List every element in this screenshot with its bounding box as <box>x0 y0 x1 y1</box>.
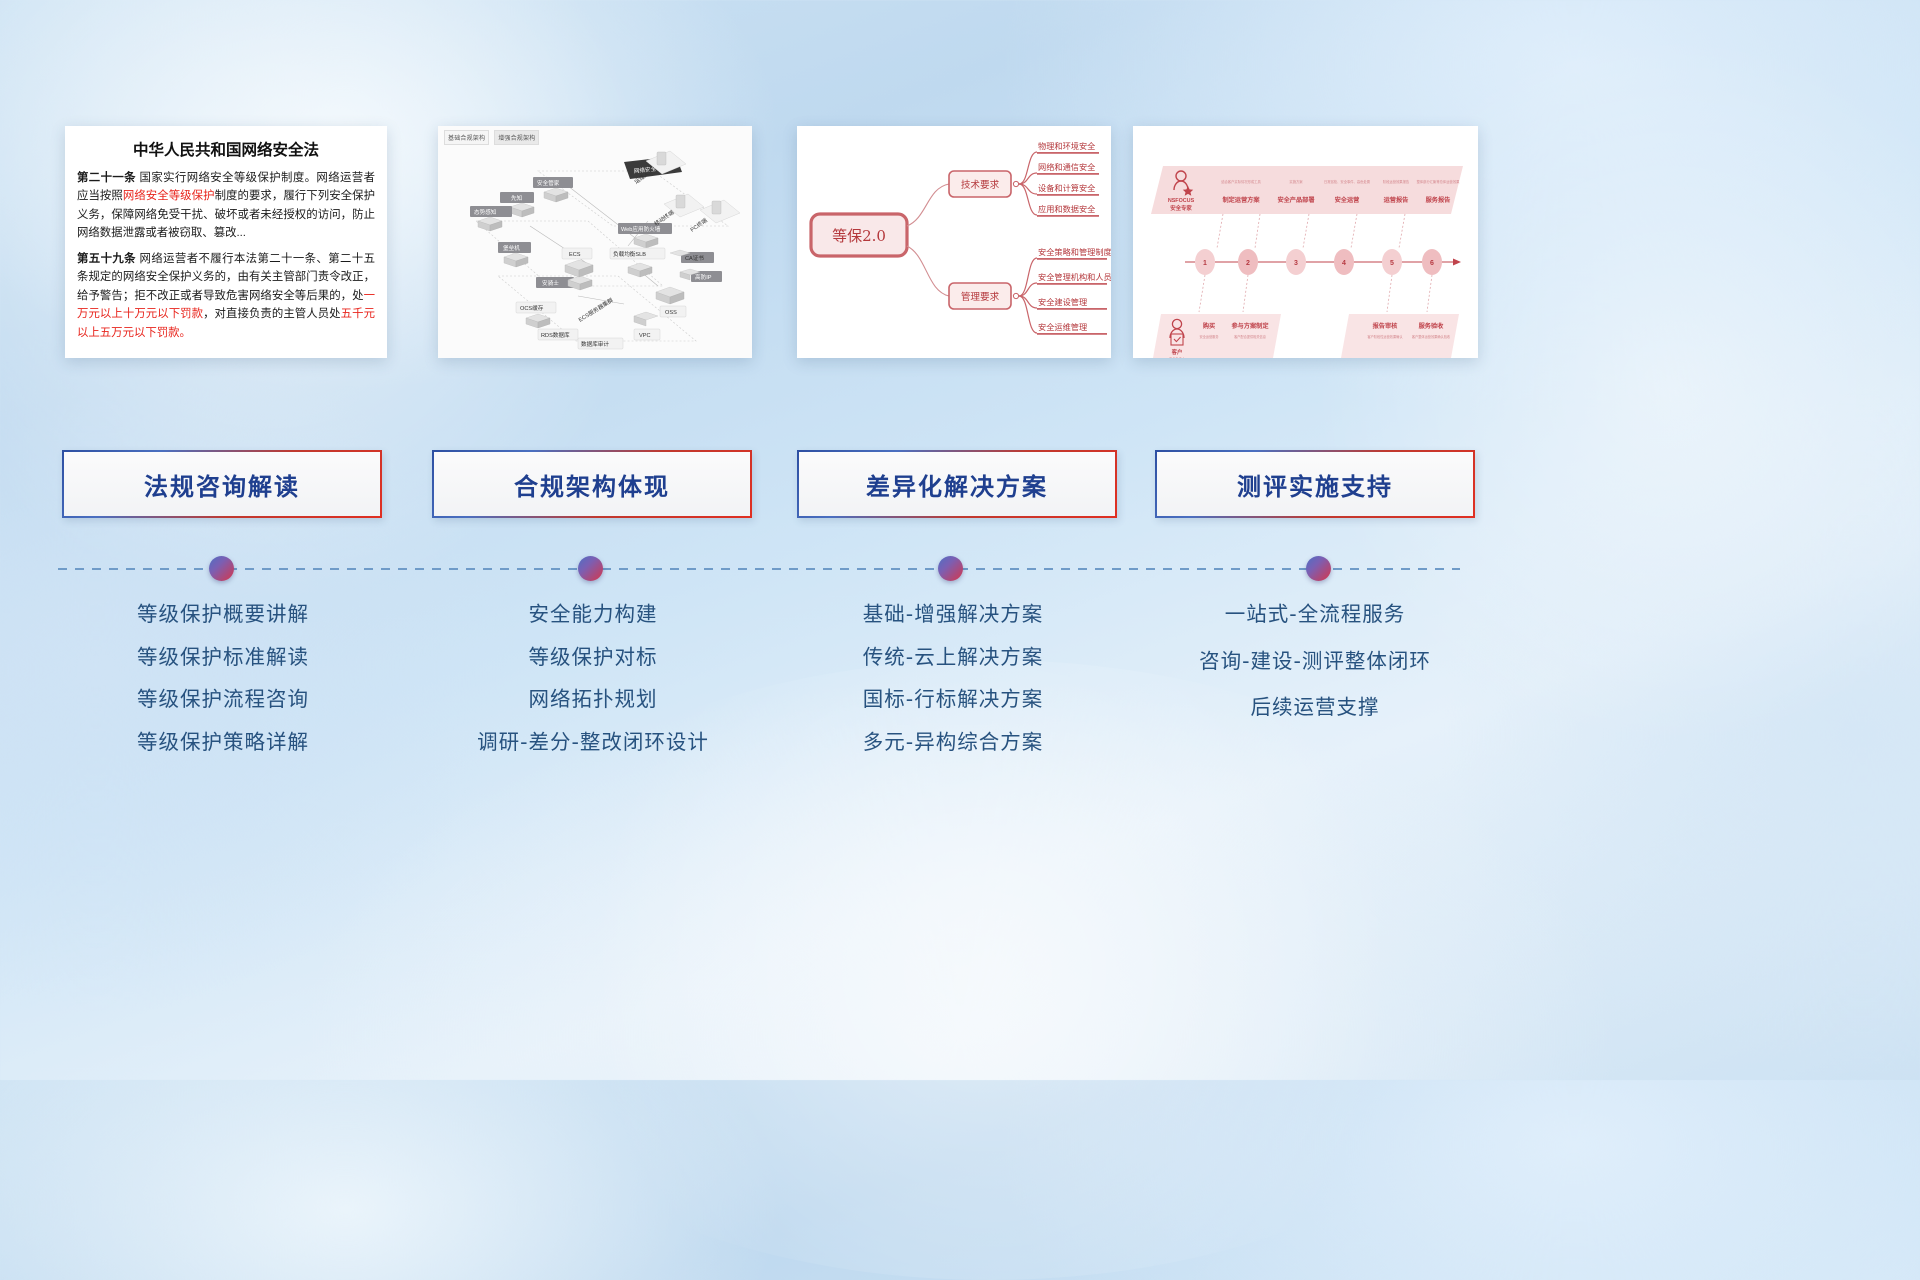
node-vpc: VPC <box>634 312 660 340</box>
service-timeline-diagram: NSFOCUS 安全专家 结合客户实际情况形成工具 制定运营方案 实施方案 安全… <box>1133 126 1478 358</box>
node-rds: RDS数据库 <box>538 329 578 340</box>
detail-item: 等级保护策略详解 <box>62 732 384 753</box>
timeline-number-3: 3 <box>1294 260 1298 267</box>
architecture-diagram: 基础合规架构 增强合规架构 网络安全 <box>438 126 752 358</box>
mindmap-leaf-group-management: 安全策略和管理制度 安全管理机构和人员 安全建设管理 安全运维管理 <box>1037 247 1111 335</box>
slide-stage: 中华人民共和国网络安全法 第二十一条 国家实行网络安全等级保护制度。网络运营者应… <box>0 0 1920 1080</box>
detail-column-3: 基础-增强解决方案 传统-云上解决方案 国标-行标解决方案 多元-异构综合方案 <box>792 604 1114 774</box>
mindmap-svg: 等保2.0 技术要求 物理和环境 <box>797 126 1111 358</box>
heading-box-regulation-consulting[interactable]: 法规咨询解读 <box>62 450 382 518</box>
mindmap-leaf-ops-mgmt: 安全运维管理 <box>1038 322 1087 332</box>
detail-item: 等级保护概要讲解 <box>62 604 384 625</box>
heading-box-evaluation-support[interactable]: 测评实施支持 <box>1155 450 1475 518</box>
timeline-number-6: 6 <box>1430 260 1434 267</box>
law-article-21: 第二十一条 国家实行网络安全等级保护制度。网络运营者应当按照网络安全等级保护制度… <box>77 169 375 243</box>
node-label-ecs-cluster: ECS服务器集群 <box>577 296 615 324</box>
process-dot-4[interactable] <box>1306 556 1331 581</box>
detail-item: 安全能力构建 <box>432 604 754 625</box>
article-59-text-b: ，对直接负责的主管人员处 <box>203 308 341 320</box>
node-waf: Web应用防火墙 <box>618 223 672 248</box>
customer-step-1-sub: 安全运营服务 <box>1199 334 1219 339</box>
detail-item: 调研-差分-整改闭环设计 <box>432 732 754 753</box>
expert-step-3-main: 安全运营 <box>1335 196 1360 204</box>
section-heading-row: 法规咨询解读 合规架构体现 差异化解决方案 测评实施支持 <box>0 450 1920 520</box>
node-anqishi: 安骑士 <box>536 276 592 290</box>
mindmap-root-node: 等保2.0 <box>811 214 907 256</box>
heading-label-1: 法规咨询解读 <box>144 467 300 502</box>
detail-item: 咨询-建设-测评整体闭环 <box>1150 651 1480 672</box>
detail-item: 国标-行标解决方案 <box>792 689 1114 710</box>
architecture-svg: 网络安全 安全管家 先知 <box>438 126 752 358</box>
node-label-ecs: ECS <box>569 252 581 258</box>
node-label-ca-certificate: CA证书 <box>685 254 704 262</box>
detail-item: 一站式-全流程服务 <box>1150 604 1480 625</box>
heading-label-4: 测评实施支持 <box>1237 467 1393 502</box>
timeline-number-1: 1 <box>1203 260 1207 267</box>
customer-step-3-main: 报告审核 <box>1373 322 1399 330</box>
preview-card-row: 中华人民共和国网络安全法 第二十一条 国家实行网络安全等级保护制度。网络运营者应… <box>0 126 1920 361</box>
service-timeline-svg: NSFOCUS 安全专家 结合客户实际情况形成工具 制定运营方案 实施方案 安全… <box>1133 126 1478 358</box>
heading-label-2: 合规架构体现 <box>514 467 670 502</box>
law-document: 中华人民共和国网络安全法 第二十一条 国家实行网络安全等级保护制度。网络运营者应… <box>65 126 387 358</box>
node-oss: OSS <box>656 287 686 317</box>
customer-step-3-sub: 客户阶段性运营效果确认 <box>1367 334 1403 339</box>
customer-step-4-main: 服务验收 <box>1419 322 1445 330</box>
customer-step-1-main: 购买 <box>1203 322 1215 330</box>
article-21-highlight: 网络安全等级保护 <box>123 190 215 202</box>
mindmap-leaf-device-compute: 设备和计算安全 <box>1038 183 1095 193</box>
brand-name: NSFOCUS <box>1168 198 1195 204</box>
detail-column-2: 安全能力构建 等级保护对标 网络拓扑规划 调研-差分-整改闭环设计 <box>432 604 754 774</box>
mindmap-leaf-construction-mgmt: 安全建设管理 <box>1038 297 1087 307</box>
expert-step-5-sub: 整体部分汇聚等总体运营效果 <box>1417 179 1461 184</box>
detail-item: 多元-异构综合方案 <box>792 732 1114 753</box>
card-service-timeline[interactable]: NSFOCUS 安全专家 结合客户实际情况形成工具 制定运营方案 实施方案 安全… <box>1133 126 1478 358</box>
expert-step-4-sub: 阶段运营效果报告 <box>1383 179 1410 184</box>
customer-step-2-sub: 客户配合提供相关信息 <box>1234 334 1266 339</box>
process-dot-2[interactable] <box>578 556 603 581</box>
expert-step-5-main: 服务报告 <box>1426 196 1451 204</box>
node-label-situational-awareness: 态势感知 <box>474 208 497 216</box>
heading-box-differentiated-solution[interactable]: 差异化解决方案 <box>797 450 1117 518</box>
detail-item: 基础-增强解决方案 <box>792 604 1114 625</box>
node-label-xianzhi: 先知 <box>511 194 523 202</box>
customer-step-4-sub: 客户整体运营效果确认验收 <box>1412 334 1451 339</box>
detail-column-4: 一站式-全流程服务 咨询-建设-测评整体闭环 后续运营支撑 <box>1150 604 1480 744</box>
node-mobile-terminal: 移动终端 <box>653 194 704 228</box>
node-situational-awareness: 态势感知 <box>470 206 512 231</box>
node-slb: 负载均衡SLB <box>610 248 665 277</box>
expert-step-2-main: 安全产品部署 <box>1277 196 1314 204</box>
article-21-label: 第二十一条 <box>77 172 136 184</box>
node-db-audit: 数据库审计 <box>578 338 623 349</box>
detail-item: 等级保护流程咨询 <box>62 689 384 710</box>
node-label-pc-terminal: PC终端 <box>689 216 709 234</box>
law-article-59: 第五十九条 网络运营者不履行本法第二十一条、第二十五条规定的网络安全保护义务的，… <box>77 250 375 342</box>
node-label-waf: Web应用防火墙 <box>621 225 661 233</box>
process-dot-3[interactable] <box>938 556 963 581</box>
node-anti-ddos-ip: 高防IP <box>680 269 722 282</box>
timeline-number-2: 2 <box>1246 260 1250 267</box>
card-law-text[interactable]: 中华人民共和国网络安全法 第二十一条 国家实行网络安全等级保护制度。网络运营者应… <box>65 126 387 358</box>
law-title: 中华人民共和国网络安全法 <box>77 138 375 160</box>
mindmap-leaf-physical-env: 物理和环境安全 <box>1038 141 1095 151</box>
mindmap-leaf-group-technical: 物理和环境安全 网络和通信安全 设备和计算安全 应用和数据安全 <box>1037 141 1099 217</box>
process-dot-1[interactable] <box>209 556 234 581</box>
node-label-security-butler: 安全管家 <box>537 179 560 187</box>
node-ecs: ECS <box>562 248 593 277</box>
node-label-anti-ddos-ip: 高防IP <box>695 273 712 281</box>
expert-step-3-sub: 日常巡检、安全事件、高危处置 <box>1324 179 1371 184</box>
node-label-bastion-host: 堡垒机 <box>503 244 520 252</box>
node-bastion-host: 堡垒机 <box>498 242 531 267</box>
node-label-anqishi: 安骑士 <box>542 279 559 287</box>
mindmap-branch-technical: 技术要求 <box>949 171 1019 197</box>
detail-item: 传统-云上解决方案 <box>792 647 1114 668</box>
timeline-number-4: 4 <box>1342 260 1346 267</box>
node-label-db-audit: 数据库审计 <box>581 340 609 348</box>
detail-item: 等级保护标准解读 <box>62 647 384 668</box>
detail-item: 网络拓扑规划 <box>432 689 754 710</box>
mindmap-leaf-network-comm: 网络和通信安全 <box>1038 162 1095 172</box>
detail-item: 后续运营支撑 <box>1150 697 1480 718</box>
customer-role-sub: 安全负责人 <box>1169 356 1186 358</box>
customer-role-label: 客户 <box>1172 348 1183 356</box>
mindmap-leaf-policy-system: 安全策略和管理制度 <box>1038 247 1111 257</box>
card-cloud-architecture[interactable]: 基础合规架构 增强合规架构 网络安全 <box>438 126 752 358</box>
detail-item: 等级保护对标 <box>432 647 754 668</box>
mindmap-root-label: 等保2.0 <box>832 227 886 245</box>
card-mindmap[interactable]: 等保2.0 技术要求 物理和环境 <box>797 126 1111 358</box>
node-label-vpc: VPC <box>639 333 651 339</box>
timeline-arrow-icon <box>1453 259 1461 266</box>
customer-step-2-main: 参与方案制定 <box>1231 322 1269 330</box>
expert-step-1-main: 制定运营方案 <box>1222 196 1260 204</box>
node-ocs-cache: OCS缓存 <box>516 302 556 328</box>
heading-label-3: 差异化解决方案 <box>866 467 1048 502</box>
heading-box-compliance-architecture[interactable]: 合规架构体现 <box>432 450 752 518</box>
mindmap-branch-management: 管理要求 <box>949 283 1019 309</box>
expert-step-1-sub: 结合客户实际情况形成工具 <box>1221 179 1261 184</box>
process-axis-line <box>58 568 1460 570</box>
node-security-butler: 安全管家 <box>533 177 573 202</box>
mindmap-leaf-org-personnel: 安全管理机构和人员 <box>1038 272 1111 282</box>
node-label-ocs-cache: OCS缓存 <box>520 304 544 312</box>
detail-column-1: 等级保护概要讲解 等级保护标准解读 等级保护流程咨询 等级保护策略详解 <box>62 604 384 774</box>
mindmap-branch-technical-label: 技术要求 <box>961 179 1000 191</box>
brand-subtitle: 安全专家 <box>1170 204 1192 212</box>
node-ca-certificate: CA证书 <box>670 250 714 263</box>
node-label-slb: 负载均衡SLB <box>613 250 646 258</box>
mindmap-diagram: 等保2.0 技术要求 物理和环境 <box>797 126 1111 358</box>
mindmap-leaf-app-data: 应用和数据安全 <box>1038 204 1095 214</box>
expert-step-2-sub: 实施方案 <box>1289 179 1303 184</box>
node-label-oss: OSS <box>665 310 677 316</box>
timeline-number-5: 5 <box>1390 260 1394 267</box>
expert-step-4-main: 运营报告 <box>1384 196 1409 204</box>
article-59-label: 第五十九条 <box>77 253 136 265</box>
mindmap-branch-management-label: 管理要求 <box>961 291 1000 303</box>
node-label-rds: RDS数据库 <box>541 331 570 339</box>
